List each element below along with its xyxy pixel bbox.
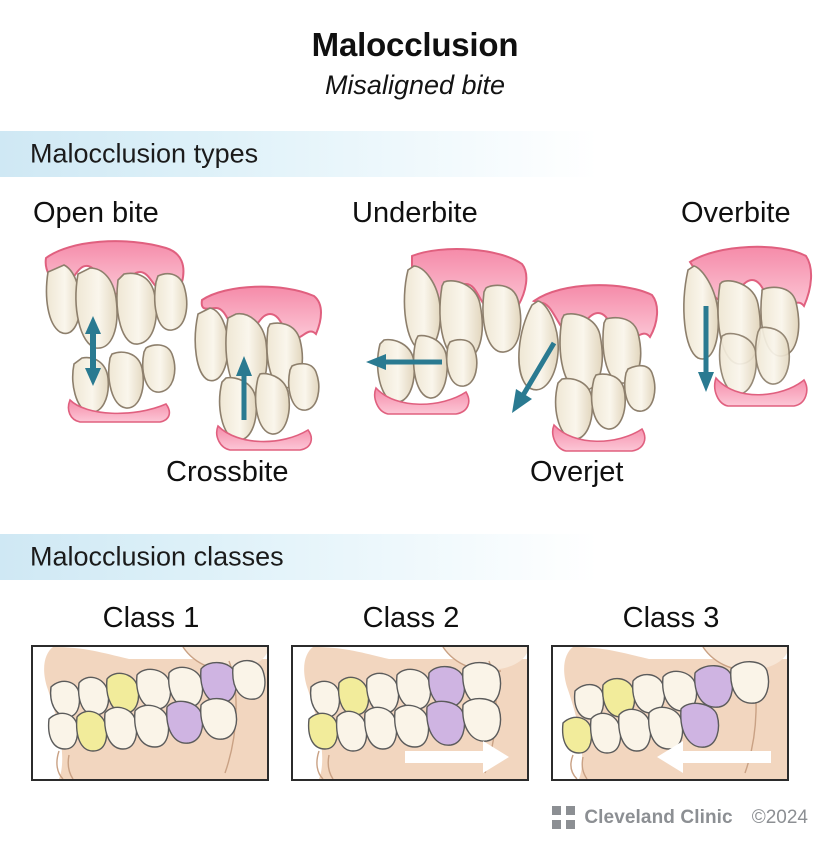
type-label-crossbite: Crossbite [166, 456, 289, 489]
class-panel-1 [31, 645, 269, 781]
section-banner-classes-label: Malocclusion classes [30, 542, 284, 573]
footer: Cleveland Clinic ©2024 [0, 806, 830, 829]
type-label-overjet: Overjet [530, 456, 623, 489]
class-panel-2 [291, 645, 529, 781]
section-banner-classes: Malocclusion classes [0, 534, 830, 580]
tooth-diagram-crossbite [182, 278, 342, 453]
class-label-1: Class 1 [31, 602, 271, 635]
infographic-root: Malocclusion Misaligned bite Malocclusio… [0, 0, 830, 863]
type-label-underbite: Underbite [352, 197, 478, 230]
page-subtitle: Misaligned bite [0, 70, 830, 101]
section-banner-types-label: Malocclusion types [30, 139, 258, 170]
section-banner-types: Malocclusion types [0, 131, 830, 177]
type-label-open-bite: Open bite [33, 197, 159, 230]
tooth-diagram-overbite [672, 240, 822, 420]
type-label-overbite: Overbite [681, 197, 791, 230]
page-title: Malocclusion [0, 26, 830, 64]
class-panel-3 [551, 645, 789, 781]
brand-name: Cleveland Clinic [584, 807, 732, 829]
class-label-2: Class 2 [291, 602, 531, 635]
tooth-diagram-overjet [500, 275, 670, 455]
copyright-text: ©2024 [752, 807, 808, 829]
cleveland-clinic-logo-icon [552, 806, 575, 829]
class-label-3: Class 3 [551, 602, 791, 635]
